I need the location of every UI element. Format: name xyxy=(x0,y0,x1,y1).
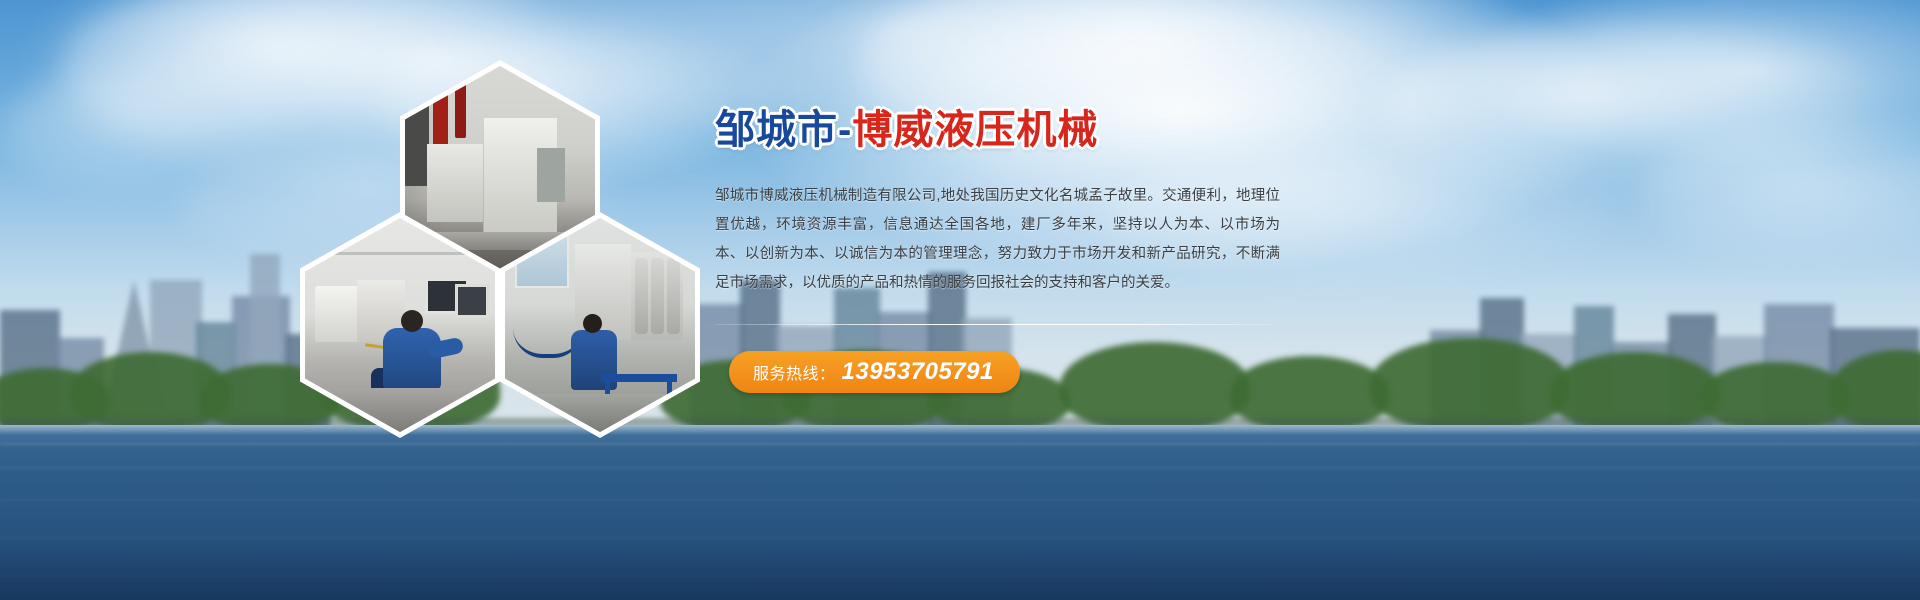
hotline-button[interactable]: 服务热线： 13953705791 xyxy=(729,351,1020,393)
hexagon-photo-cluster xyxy=(300,60,700,440)
page-title-brand: 博威液压机械 xyxy=(852,108,1098,152)
cloud-shape xyxy=(1380,20,1900,200)
hotline-number: 13953705791 xyxy=(842,358,994,386)
company-description: 邹城市博威液压机械制造有限公司,地处我国历史文化名城孟子故里。交通便利，地理位置… xyxy=(715,182,1280,298)
page-title-city: 邹城市- xyxy=(715,108,852,152)
hotline-label: 服务热线： xyxy=(753,360,836,384)
page-title: 邹城市-博威液压机械 xyxy=(715,108,1295,152)
content-divider xyxy=(715,324,1275,325)
banner-content: 邹城市-博威液压机械 邹城市博威液压机械制造有限公司,地处我国历史文化名城孟子故… xyxy=(715,108,1295,393)
water-background xyxy=(0,425,1920,600)
company-hero-banner: 邹城市-博威液压机械 邹城市博威液压机械制造有限公司,地处我国历史文化名城孟子故… xyxy=(0,0,1920,600)
